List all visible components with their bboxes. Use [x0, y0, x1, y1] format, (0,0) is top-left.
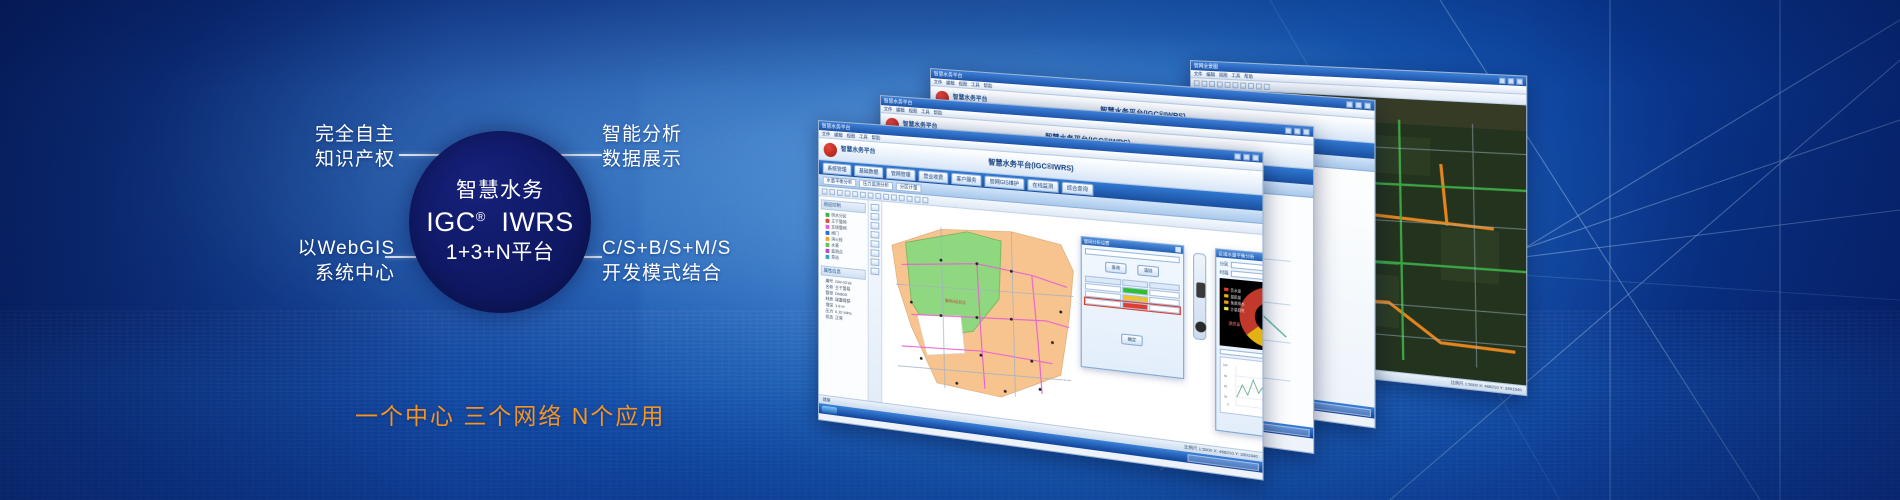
nav-tab[interactable]: 营业收费 [919, 170, 949, 184]
print-tool-icon[interactable] [871, 258, 880, 266]
status-left-text: 就绪 [823, 397, 831, 404]
window-controls[interactable] [1499, 77, 1523, 85]
menu-item[interactable]: 帮助 [1244, 73, 1253, 80]
nav-tab[interactable]: 系统管理 [823, 162, 852, 175]
menu-item[interactable]: 视图 [1219, 72, 1228, 78]
svg-text:60: 60 [1224, 385, 1228, 389]
start-button[interactable] [822, 405, 837, 414]
measure-tool-icon[interactable] [871, 240, 880, 248]
svg-text:30: 30 [1224, 395, 1228, 399]
nav-tab[interactable]: 在线监测 [1027, 178, 1058, 192]
svg-text:免费用水: 免费用水 [1231, 300, 1245, 307]
menu-item[interactable]: 工具 [921, 109, 930, 116]
sub-tab[interactable]: 水量平衡分析 [823, 176, 856, 187]
query-button[interactable]: 查询 [1105, 262, 1126, 275]
feature-label-line1: 智能分析 [602, 122, 682, 147]
window-controls[interactable] [1234, 152, 1259, 160]
svg-text:漏损量: 漏损量 [1231, 293, 1242, 300]
menu-item[interactable]: 文件 [884, 106, 893, 113]
menu-item[interactable]: 编辑 [834, 132, 843, 139]
pan-compass-icon[interactable] [1195, 321, 1206, 333]
sub-tab[interactable]: 压力监测分析 [859, 179, 893, 190]
menu-item[interactable]: 视图 [847, 133, 856, 140]
registered-mark-icon: ® [476, 209, 486, 224]
menu-item[interactable]: 文件 [822, 131, 831, 138]
zoom-out-tool-icon[interactable] [871, 222, 880, 230]
feature-label-top-left: 完全自主 知识产权 [180, 122, 395, 172]
svg-text:漏损量: 漏损量 [1228, 320, 1241, 327]
menu-item[interactable]: 文件 [1194, 71, 1203, 77]
badge-line1: 智慧水务 [456, 179, 544, 203]
period-label: 时段 [1220, 269, 1229, 276]
zoom-slider-handle[interactable] [1196, 282, 1205, 298]
layer-node-label: 泵站 [831, 254, 839, 261]
nav-tab[interactable]: 管网管理 [886, 167, 915, 181]
screenshot-window-front[interactable]: 智慧水务平台 文件 编辑 视图 工具 帮助 智慧水务平台 智慧水务平台(IGC®… [818, 120, 1264, 481]
window-title: 管网全景图 [1194, 62, 1218, 70]
dialog-body: 查询 清除 [1082, 245, 1183, 357]
badge-line3: 1+3+N平台 [446, 240, 555, 265]
feature-label-top-right: 智能分析 数据展示 [602, 122, 682, 172]
badge-line2: IGC® IWRS [426, 207, 574, 238]
nav-tab[interactable]: 综合查询 [1062, 181, 1094, 195]
menu-item[interactable]: 编辑 [1206, 71, 1215, 77]
menu-item[interactable]: 编辑 [896, 107, 905, 114]
banner-stage: 管网全景图 文件 编辑 视图 工具 帮助 [0, 0, 1900, 500]
window-controls[interactable] [1285, 127, 1310, 135]
identify-tool-icon[interactable] [871, 249, 880, 257]
brand-name: 智慧水务平台 [841, 147, 876, 156]
feature-label-line2: 数据展示 [602, 147, 682, 172]
menu-item[interactable]: 帮助 [934, 109, 943, 116]
svg-text:售水量: 售水量 [1231, 287, 1242, 294]
panel-body: 分区 时段 [1216, 257, 1262, 431]
badge-brand-iwrs: IWRS [501, 207, 574, 237]
water-balance-panel[interactable]: 区域水量平衡分析 分区 时段 [1215, 248, 1262, 446]
banner-tagline: 一个中心 三个网络 N个应用 [355, 397, 665, 431]
dialog-close-icon[interactable] [1175, 247, 1180, 253]
pan-tool-icon[interactable] [871, 204, 880, 212]
svg-text:90: 90 [1224, 374, 1228, 378]
svg-text:0: 0 [1227, 403, 1229, 407]
attribute-key: 状态 [826, 314, 834, 321]
layer-tool-icon[interactable] [871, 267, 880, 275]
svg-text:120: 120 [1223, 364, 1228, 368]
badge-brand-igc: IGC [426, 207, 476, 237]
donut-chart-svg: 漏损量售水量 供水量 502.25 售水量 漏损量 免费用水 计量损失 [1220, 278, 1263, 358]
center-badge: 智慧水务 IGC® IWRS 1+3+N平台 [409, 131, 591, 313]
menu-item[interactable]: 工具 [1231, 73, 1240, 79]
map-navigation-control[interactable] [1193, 253, 1206, 341]
feature-label-line2: 知识产权 [180, 147, 395, 172]
analysis-dialog[interactable]: 管网分析设置 查询 清除 [1081, 236, 1184, 379]
result-table[interactable] [1085, 275, 1180, 314]
feature-label-bottom-right: C/S+B/S+M/S 开发模式结合 [602, 236, 731, 286]
map-tool-strip[interactable] [869, 200, 883, 402]
sub-tab[interactable]: 分区计量 [896, 182, 922, 192]
zone-label: 分区 [1220, 261, 1229, 268]
menu-item[interactable]: 帮助 [872, 134, 881, 141]
feature-label-bottom-left: 以WebGIS 系统中心 [180, 236, 395, 286]
menu-item[interactable]: 视图 [959, 81, 968, 88]
trend-chart-svg: 1209060300 [1221, 357, 1263, 425]
nav-tab[interactable]: 基础数据 [854, 164, 883, 177]
dialog-footer[interactable]: 确定 [1085, 329, 1180, 350]
trend-chart: 1209060300 [1220, 356, 1263, 427]
confirm-button[interactable]: 确定 [1121, 333, 1143, 346]
menu-item[interactable]: 帮助 [984, 82, 993, 89]
menu-item[interactable]: 文件 [934, 79, 943, 86]
menu-item[interactable]: 视图 [909, 108, 918, 115]
nav-tab[interactable]: 客户服务 [951, 172, 981, 186]
menu-item[interactable]: 工具 [971, 82, 980, 89]
feature-label-line2: 开发模式结合 [602, 261, 731, 286]
zoom-in-tool-icon[interactable] [871, 213, 880, 221]
attribute-value: 正常 [835, 315, 843, 322]
feature-label-line1: C/S+B/S+M/S [602, 236, 731, 261]
layer-tree-panel[interactable]: 图层控制 供水分区 主干管网 支线管网 阀门 消火栓 水表 监测点 泵站 属性信… [819, 196, 869, 401]
clear-button[interactable]: 清除 [1137, 265, 1159, 278]
feature-label-line1: 完全自主 [180, 122, 395, 147]
select-tool-icon[interactable] [871, 231, 880, 239]
window-controls[interactable] [1346, 100, 1371, 108]
feature-label-line2: 系统中心 [180, 261, 395, 286]
donut-chart: 漏损量售水量 供水量 502.25 售水量 漏损量 免费用水 计量损失 [1220, 278, 1263, 358]
company-logo-icon [824, 142, 837, 157]
feature-label-line1: 以WebGIS [180, 236, 395, 261]
menu-item[interactable]: 工具 [859, 134, 868, 141]
menu-item[interactable]: 编辑 [946, 80, 955, 87]
